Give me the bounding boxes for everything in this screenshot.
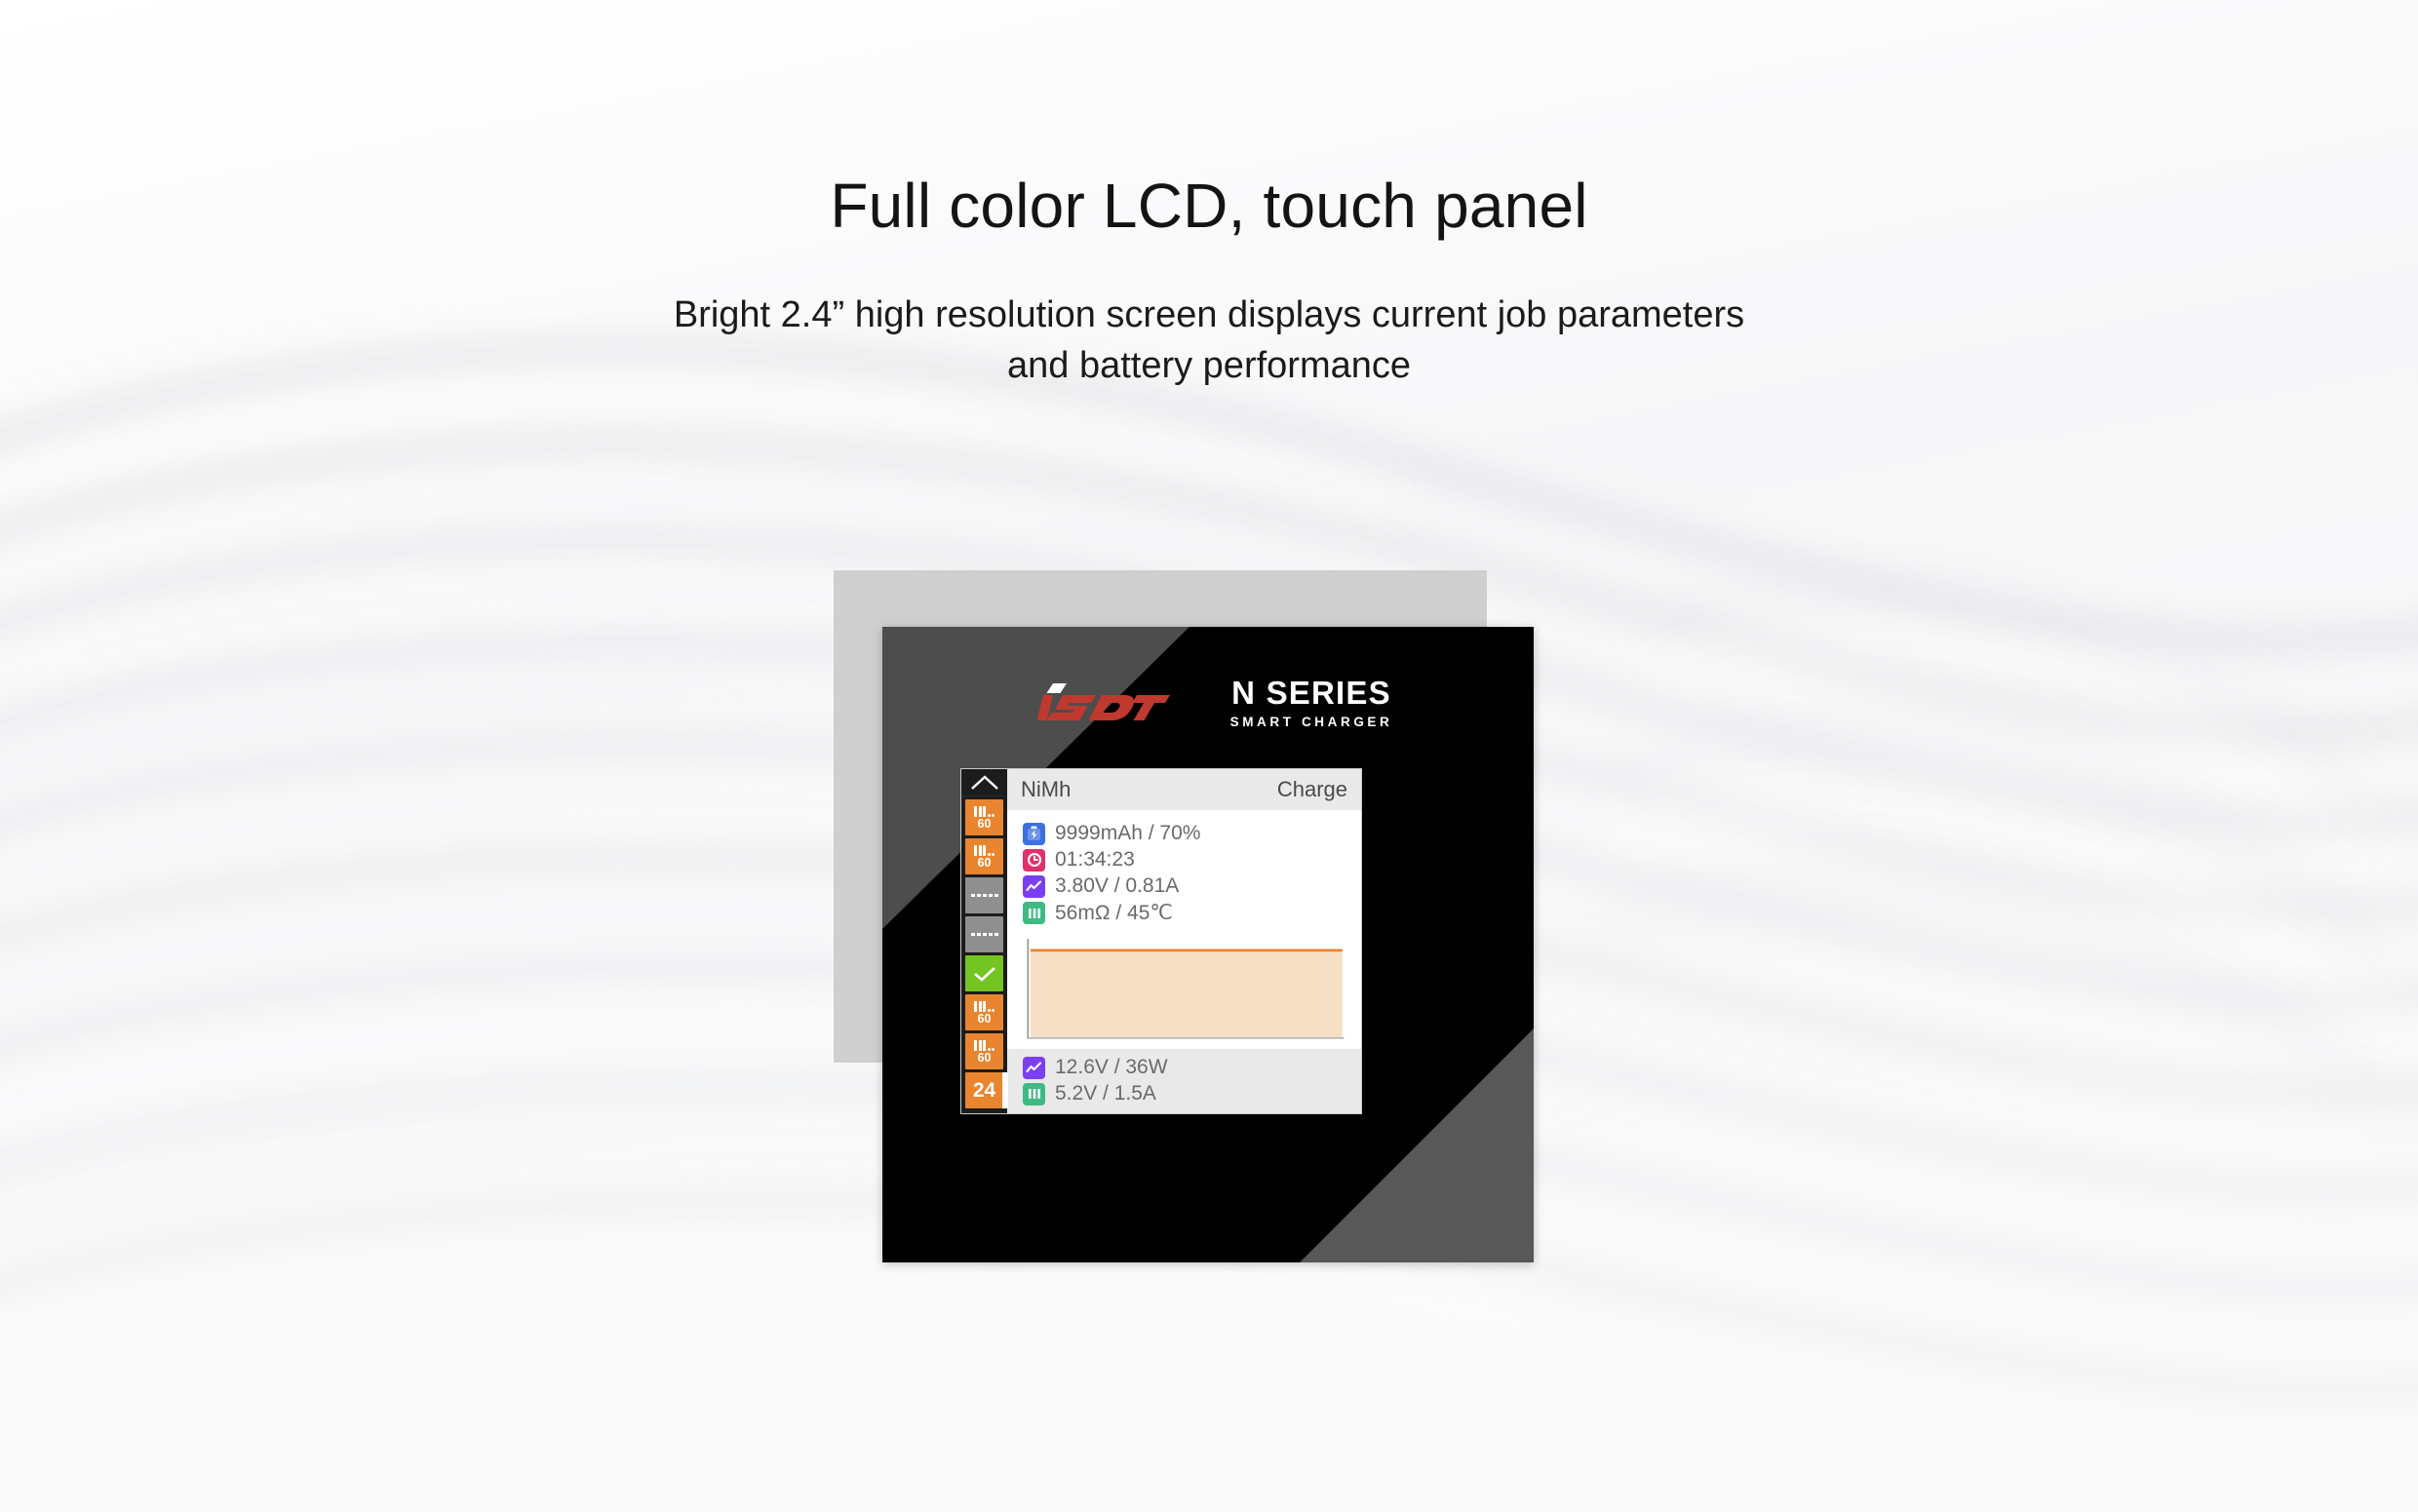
- series-branding: N SERIES SMART CHARGER: [1230, 677, 1393, 729]
- lcd-header: NiMh Charge: [1007, 769, 1361, 810]
- subtitle-line-2: and battery performance: [1007, 345, 1411, 386]
- battery-bars-icon: [974, 1039, 994, 1051]
- footer-readout-usb: 5.2V / 1.5A: [1023, 1082, 1361, 1105]
- battery-charging-icon: [1023, 823, 1045, 845]
- slot-value: 60: [978, 1013, 992, 1026]
- battery-type-label: NiMh: [1021, 777, 1071, 802]
- series-tagline: SMART CHARGER: [1230, 709, 1393, 729]
- line-chart-icon: [1023, 1057, 1045, 1079]
- series-name: N SERIES: [1231, 677, 1391, 709]
- lcd-content: NiMh Charge 9999mAh / 70%: [1007, 769, 1361, 1113]
- readout-value: 3.80V / 0.81A: [1055, 874, 1179, 898]
- page-subtitle: Bright 2.4” high resolution screen displ…: [0, 240, 2418, 391]
- readout-value: 12.6V / 36W: [1055, 1056, 1168, 1079]
- battery-slot-empty[interactable]: [965, 877, 1003, 913]
- battery-bars-icon: [974, 1000, 994, 1012]
- brand-row: N SERIES SMART CHARGER: [882, 671, 1534, 735]
- check-icon: [972, 965, 997, 983]
- battery-bars-icon: [974, 805, 994, 817]
- empty-dots-icon: [971, 894, 998, 898]
- lcd-screen[interactable]: 60 60: [960, 768, 1362, 1114]
- readout-value: 9999mAh / 70%: [1055, 822, 1200, 845]
- readout-value: 5.2V / 1.5A: [1055, 1082, 1156, 1105]
- chart-canvas: [1023, 937, 1347, 1041]
- subtitle-line-1: Bright 2.4” high resolution screen displ…: [674, 294, 1744, 335]
- slot-value: 60: [978, 818, 992, 831]
- readout-list: 9999mAh / 70% 01:34:23: [1007, 810, 1361, 931]
- battery-slot-rail[interactable]: 60 60: [961, 769, 1007, 1113]
- lcd-footer: 12.6V / 36W 5.2V / 1.5A: [1007, 1049, 1361, 1113]
- footer-readout-input: 12.6V / 36W: [1023, 1056, 1361, 1079]
- bars-icon: [1023, 902, 1045, 924]
- charger-device-composition: N SERIES SMART CHARGER: [834, 570, 1545, 1292]
- charge-mode-label: Charge: [1277, 777, 1347, 802]
- battery-slot[interactable]: 60: [965, 838, 1003, 874]
- slot-value: 60: [978, 1052, 992, 1065]
- readout-time: 01:34:23: [1023, 848, 1361, 872]
- battery-slot-empty[interactable]: [965, 916, 1003, 952]
- page-title: Full color LCD, touch panel: [0, 174, 2418, 240]
- bars-icon: [1023, 1083, 1045, 1105]
- readout-value: 01:34:23: [1055, 848, 1135, 872]
- isdt-logo-icon: [1024, 679, 1176, 726]
- readout-value: 56mΩ / 45℃: [1055, 901, 1173, 925]
- slot-list: 60 60: [961, 796, 1007, 1113]
- battery-slot-complete[interactable]: [965, 955, 1003, 991]
- empty-dots-icon: [971, 933, 998, 937]
- chevron-up-icon[interactable]: [961, 769, 1007, 796]
- readout-capacity: 9999mAh / 70%: [1023, 822, 1361, 845]
- charge-curve-chart: [1007, 931, 1361, 1049]
- battery-bars-icon: [974, 844, 994, 856]
- battery-slot[interactable]: 60: [965, 994, 1003, 1030]
- headline-block: Full color LCD, touch panel Bright 2.4” …: [0, 174, 2418, 391]
- readout-voltage-current: 3.80V / 0.81A: [1023, 874, 1361, 898]
- line-chart-icon: [1023, 875, 1045, 898]
- clock-icon: [1023, 849, 1045, 872]
- battery-slot[interactable]: 60: [965, 799, 1003, 835]
- battery-slot[interactable]: 60: [965, 1033, 1003, 1069]
- slot-value: 60: [978, 857, 992, 870]
- charger-faceplate: N SERIES SMART CHARGER: [882, 627, 1534, 1262]
- battery-slot-count[interactable]: 24: [965, 1072, 1003, 1108]
- readout-resistance-temp: 56mΩ / 45℃: [1023, 901, 1361, 925]
- slot-value: 24: [973, 1080, 995, 1101]
